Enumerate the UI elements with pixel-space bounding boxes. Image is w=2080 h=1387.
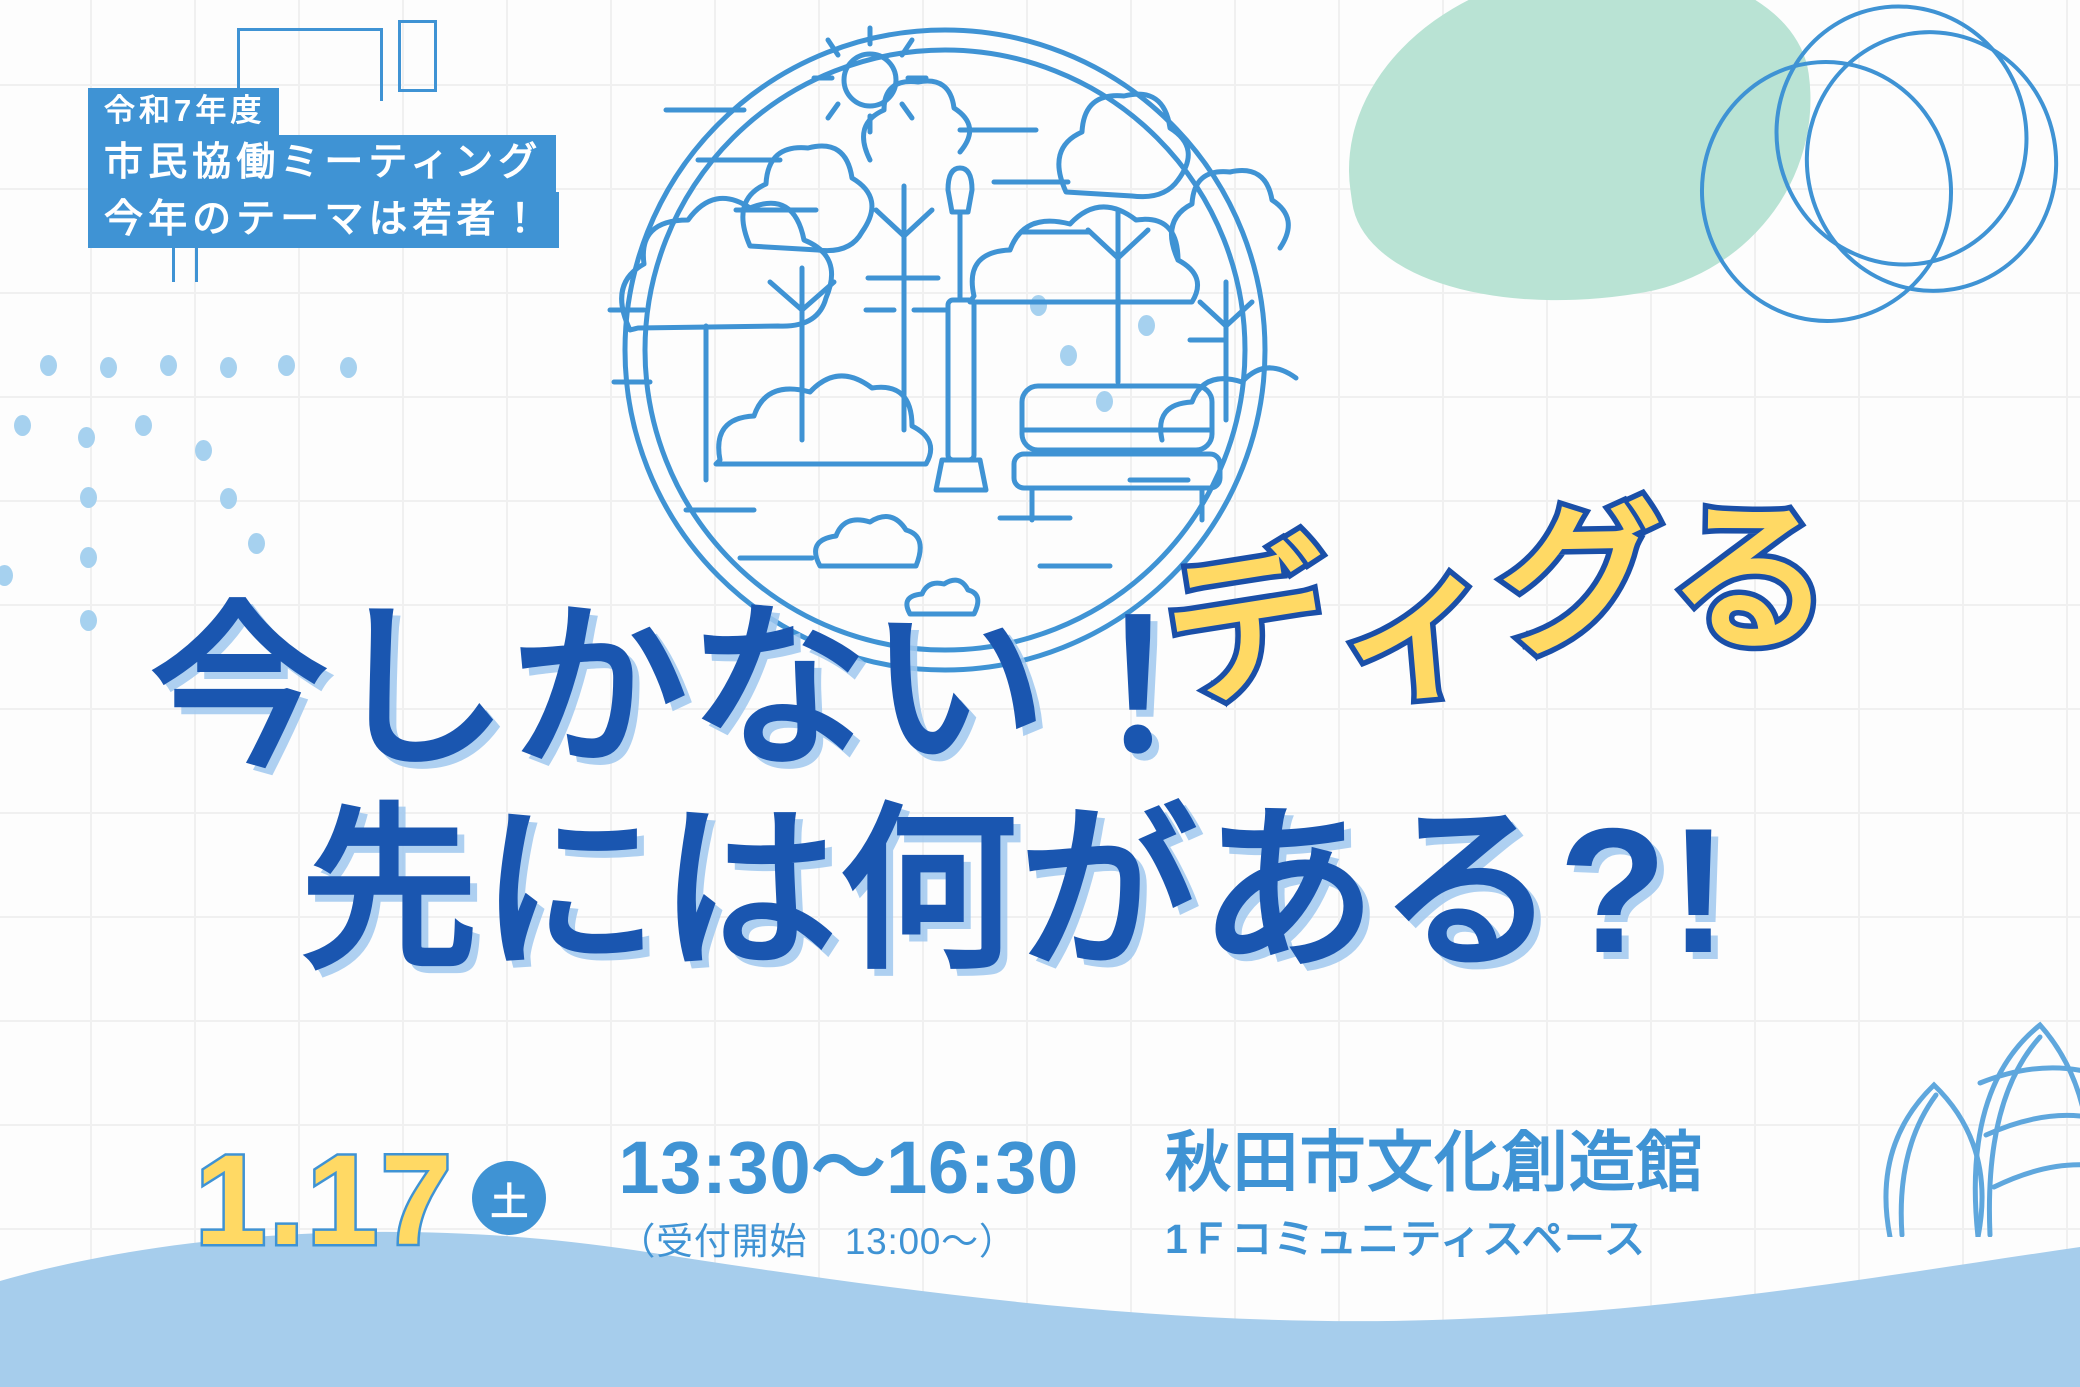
badge-line-event-name: 市民協働ミーティング xyxy=(88,135,556,192)
day-of-week-badge: 土 xyxy=(472,1161,546,1235)
accent-char-1: デ xyxy=(1146,481,1350,743)
reception-time: （受付開始 13:00〜） xyxy=(618,1211,1079,1265)
accent-char-3: グ xyxy=(1496,446,1668,688)
accent-char-4: る xyxy=(1663,441,1844,688)
event-info-row: 1.17 土 13:30〜16:30 （受付開始 13:00〜） 秋田市文化創造… xyxy=(0,1126,2080,1265)
outline-rect-2 xyxy=(398,20,437,92)
accent-char-2: ィ xyxy=(1325,485,1514,738)
badge-line-fiscal-year: 令和7年度 xyxy=(88,88,279,135)
main-title: 今しかない！ 先には何がある?! ディグる xyxy=(0,600,2080,980)
venue-name: 秋田市文化創造館 xyxy=(1165,1126,1704,1199)
poster-canvas: 令和7年度 市民協働ミーティング 今年のテーマは若者！ 今しかない！ 先には何が… xyxy=(0,0,2080,1387)
title-line-2: 先には何がある?! xyxy=(300,802,2080,980)
event-time: 13:30〜16:30 xyxy=(618,1129,1079,1207)
date-block: 1.17 土 xyxy=(195,1137,546,1265)
header-badge: 令和7年度 市民協働ミーティング 今年のテーマは若者！ xyxy=(88,88,559,248)
time-block: 13:30〜16:30 （受付開始 13:00〜） xyxy=(618,1129,1079,1265)
badge-line-theme: 今年のテーマは若者！ xyxy=(88,192,559,249)
venue-detail: 1Ｆコミュニティスペース xyxy=(1165,1205,1704,1265)
venue-block: 秋田市文化創造館 1Ｆコミュニティスペース xyxy=(1165,1126,1704,1265)
event-date: 1.17 xyxy=(195,1137,454,1265)
